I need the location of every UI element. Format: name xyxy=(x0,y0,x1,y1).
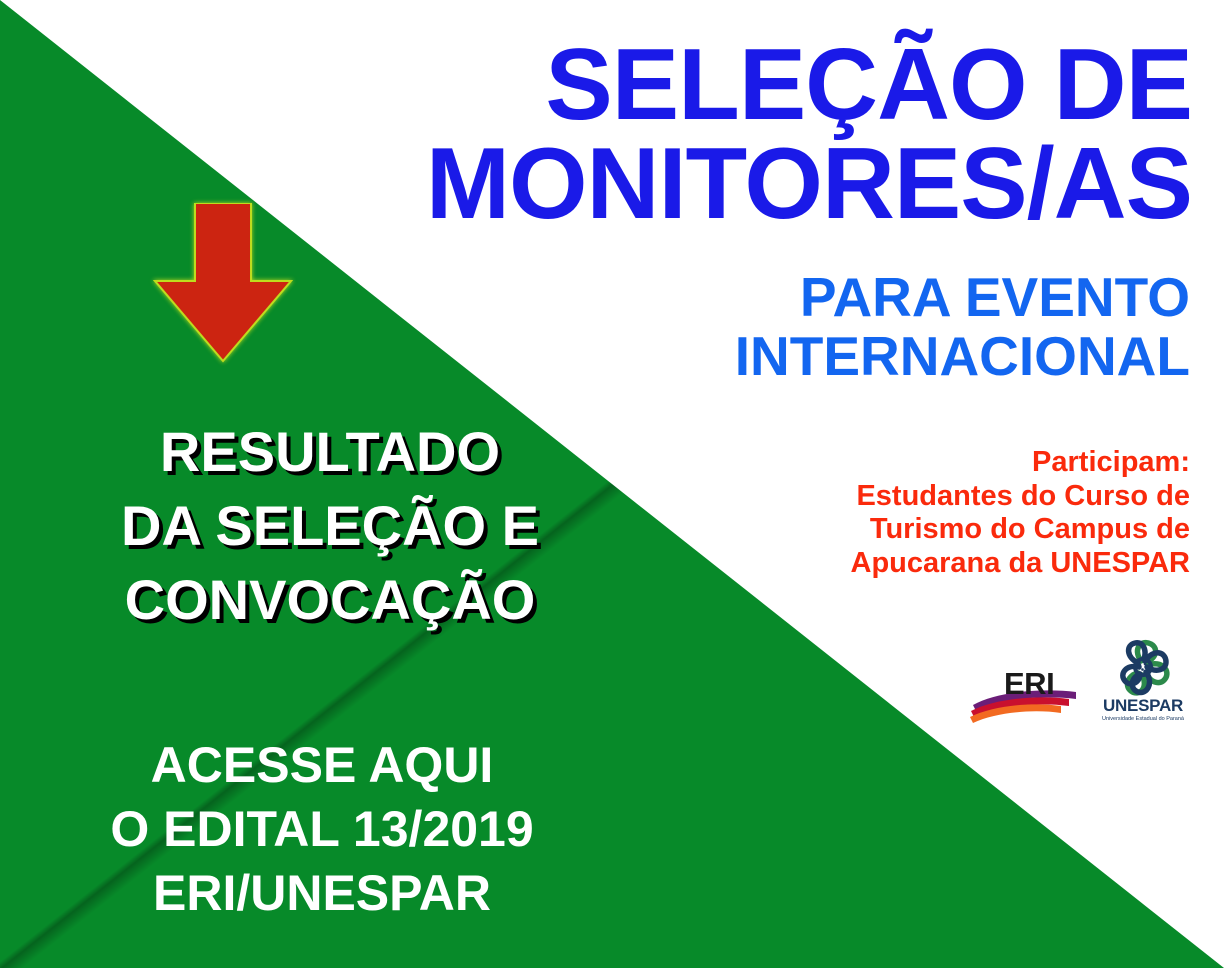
result-announcement: RESULTADO DA SELEÇÃO E CONVOCAÇÃO xyxy=(30,415,630,637)
eri-logo: ERI xyxy=(969,663,1077,725)
page-title: SELEÇÃO DE MONITORES/AS xyxy=(280,36,1192,234)
unespar-wordmark: UNESPAR xyxy=(1103,696,1183,715)
arrow-down-icon xyxy=(153,203,293,363)
poster-canvas: SELEÇÃO DE MONITORES/AS PARA EVENTO INTE… xyxy=(0,0,1224,968)
access-edital-text[interactable]: ACESSE AQUI O EDITAL 13/2019 ERI/UNESPAR xyxy=(22,733,622,925)
svg-text:ERI: ERI xyxy=(1004,666,1054,701)
participants-note: Participam: Estudantes do Curso de Turis… xyxy=(610,446,1190,581)
page-subtitle: PARA EVENTO INTERNACIONAL xyxy=(420,268,1190,387)
logo-row: ERI xyxy=(963,633,1193,725)
unespar-tagline: Universidade Estadual do Paraná xyxy=(1102,716,1185,722)
unespar-logo: UNESPAR Universidade Estadual do Paraná xyxy=(1099,635,1187,725)
